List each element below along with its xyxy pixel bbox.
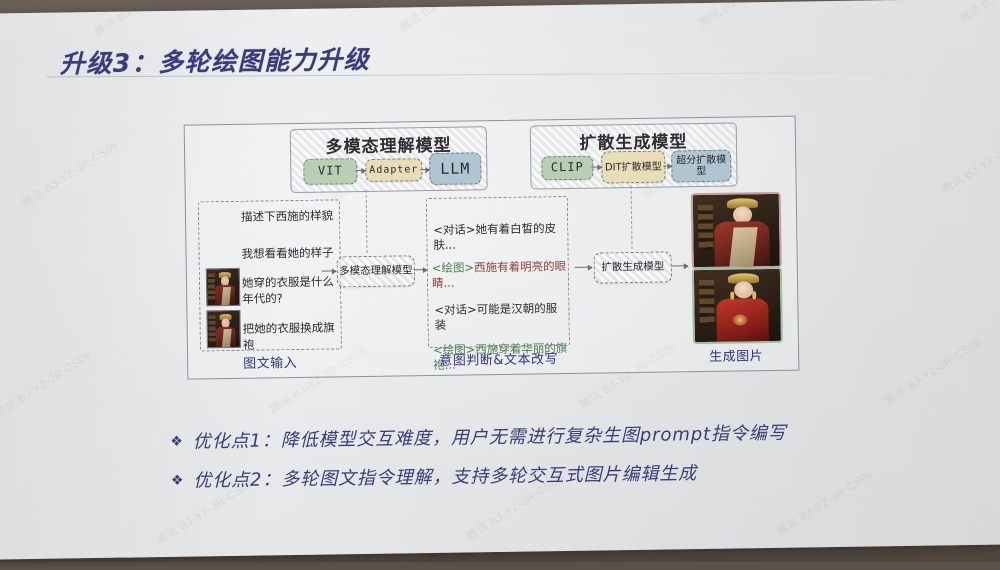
- arrow-input-to-understanding: [322, 270, 336, 271]
- chip-llm[interactable]: LLM: [429, 152, 481, 185]
- bullet-optimization-1: ❖优化点1：降低模型交互难度，用户无需进行复杂生图prompt指令编写: [170, 419, 787, 454]
- presentation-slide: 腾讯 BJ-YZ-JR-CS06 腾讯 BJ-YZ-JR-CS06 腾讯 BJ-…: [0, 0, 1000, 569]
- multimodal-understanding-group: 多模态理解模型 VIT Adapter LLM: [290, 126, 488, 193]
- generated-image-qipao[interactable]: [692, 267, 783, 344]
- arrow-intent-to-generation: [575, 267, 592, 268]
- arrow-clip-to-dit: [591, 166, 601, 167]
- watermark: 腾讯 BJ-YZ-JR-CS06: [19, 136, 122, 210]
- output-panel-label: 生成图片: [693, 345, 779, 365]
- arrow-adapter-to-llm: [420, 169, 429, 170]
- bullet-optimization-2: ❖优化点2：多轮图文指令理解，支持多轮交互式图片编辑生成: [171, 459, 698, 493]
- bullet-text: 优化点2：多轮图文指令理解，支持多轮交互式图片编辑生成: [193, 463, 697, 491]
- watermark: 腾讯 BJ-YZ-JR-CS06: [696, 0, 799, 31]
- intent-message-tag: <绘图>: [432, 260, 474, 275]
- intent-judgement-rewrite-panel: <对话>她有着白皙的皮肤... <绘图>西施有着明亮的眼睛... <对话>可能是…: [426, 196, 570, 348]
- node-diffusion-generation-model[interactable]: 扩散生成模型: [594, 251, 672, 283]
- connector-generation-down: [631, 186, 633, 249]
- image-text-input-panel: 描述下西施的样貌 我想看看她的样子 她穿的衣服是什么 年代的? 把她的衣服换成旗…: [198, 199, 342, 351]
- arrow-dit-to-sr: [663, 165, 671, 166]
- arrow-understanding-to-intent: [414, 269, 427, 270]
- intent-message-tag: <对话>: [433, 222, 475, 237]
- arrow-generation-to-output: [672, 265, 688, 266]
- input-thumbnail-image[interactable]: [206, 268, 241, 307]
- architecture-diagram: 多模态理解模型 VIT Adapter LLM 扩散生成模型 CLIP DIT扩…: [184, 116, 800, 380]
- generated-image-han-dynasty[interactable]: [691, 192, 782, 269]
- input-thumbnail-image[interactable]: [206, 310, 241, 349]
- node-multimodal-understanding-model[interactable]: 多模态理解模型: [337, 255, 415, 287]
- intent-message: <绘图>西施有着明亮的眼睛...: [431, 243, 568, 292]
- watermark: 腾讯 BJ-YZ-JR-CS06: [939, 123, 1000, 197]
- arrow-vit-to-adapter: [355, 170, 365, 171]
- watermark: 腾讯 BJ-YZ-JR-CS06: [882, 334, 985, 408]
- watermark: 腾讯 BJ-YZ-JR-CS06: [774, 465, 877, 539]
- diamond-bullet-icon: ❖: [171, 473, 185, 489]
- intent-panel-label: 意图判断&文本改写: [416, 348, 581, 369]
- chip-vit[interactable]: VIT: [303, 158, 357, 185]
- diffusion-generation-group: 扩散生成模型 CLIP DIT扩散模型 超分扩散模型: [530, 122, 738, 189]
- input-panel-label: 图文输入: [200, 351, 340, 372]
- input-message-text: 描述下西施的样貌: [241, 208, 333, 225]
- diamond-bullet-icon: ❖: [170, 434, 184, 450]
- watermark: 腾讯 BJ-YZ-JR-CS06: [956, 0, 1000, 27]
- chip-clip[interactable]: CLIP: [541, 156, 593, 181]
- intent-message-tag: <对话>: [434, 302, 476, 317]
- chip-dit-diffusion[interactable]: DIT扩散模型: [601, 151, 665, 184]
- input-message-text: 我想看看她的样子: [241, 245, 333, 262]
- watermark: 腾讯 BJ-YZ-JR-CS06: [396, 0, 499, 35]
- input-message-text: 把她的衣服换成旗袍: [243, 320, 341, 352]
- input-message-text: 她穿的衣服是什么 年代的?: [242, 274, 334, 306]
- chip-super-resolution-diffusion[interactable]: 超分扩散模型: [671, 150, 731, 183]
- chip-adapter[interactable]: Adapter: [365, 158, 422, 182]
- watermark: 腾讯 BJ-YZ-JR-CS06: [91, 0, 194, 39]
- bullet-text: 优化点1：降低模型交互难度，用户无需进行复杂生图prompt指令编写: [193, 423, 787, 453]
- connector-understanding-down: [366, 190, 368, 253]
- watermark: 腾讯 BJ-YZ-JR-CS06: [0, 347, 95, 421]
